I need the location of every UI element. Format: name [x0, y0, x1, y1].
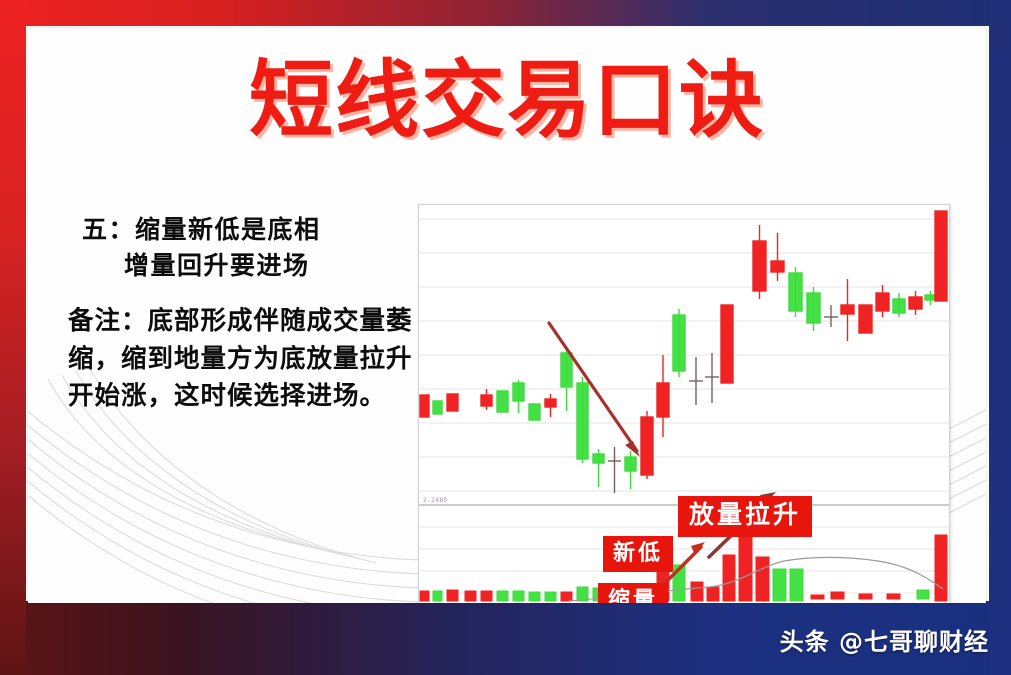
chart-inner [419, 205, 949, 603]
page-title: 短线交易口诀 [28, 58, 986, 142]
note-paragraph: 备注：底部形成伴随成交量萎缩，缩到地量方为底放量拉升开始涨，这时候选择进场。 [68, 302, 413, 415]
slide-root: 短线交易口诀 五：缩量新低是底相 增量回升要进场 备注：底部形成伴随成交量萎缩，… [0, 0, 1011, 675]
annotation-suoliang: 缩量 [598, 583, 668, 603]
verse-line-2: 增量回升要进场 [68, 249, 413, 285]
slide-content-panel: 短线交易口诀 五：缩量新低是底相 增量回升要进场 备注：底部形成伴随成交量萎缩，… [28, 28, 986, 603]
frame-right-border [989, 0, 1011, 675]
verse-block: 五：缩量新低是底相 增量回升要进场 [68, 213, 413, 284]
volume-axis-label: 2.2485 [423, 497, 448, 504]
annotation-fangliang-lasheng: 放量拉升 [678, 496, 812, 537]
verse-line-1: 五：缩量新低是底相 [68, 213, 413, 249]
annotation-xindi: 新低 [603, 536, 673, 572]
chart-svg [419, 205, 949, 603]
down-trend-arrow [549, 323, 640, 457]
frame-left-border [0, 0, 26, 675]
frame-top-border [0, 0, 1011, 26]
watermark-credit: 头条 @七哥聊财经 [780, 622, 989, 657]
body-text-block: 五：缩量新低是底相 增量回升要进场 备注：底部形成伴随成交量萎缩，缩到地量方为底… [68, 213, 413, 415]
candlestick-chart[interactable]: 2.2485 [418, 204, 950, 603]
